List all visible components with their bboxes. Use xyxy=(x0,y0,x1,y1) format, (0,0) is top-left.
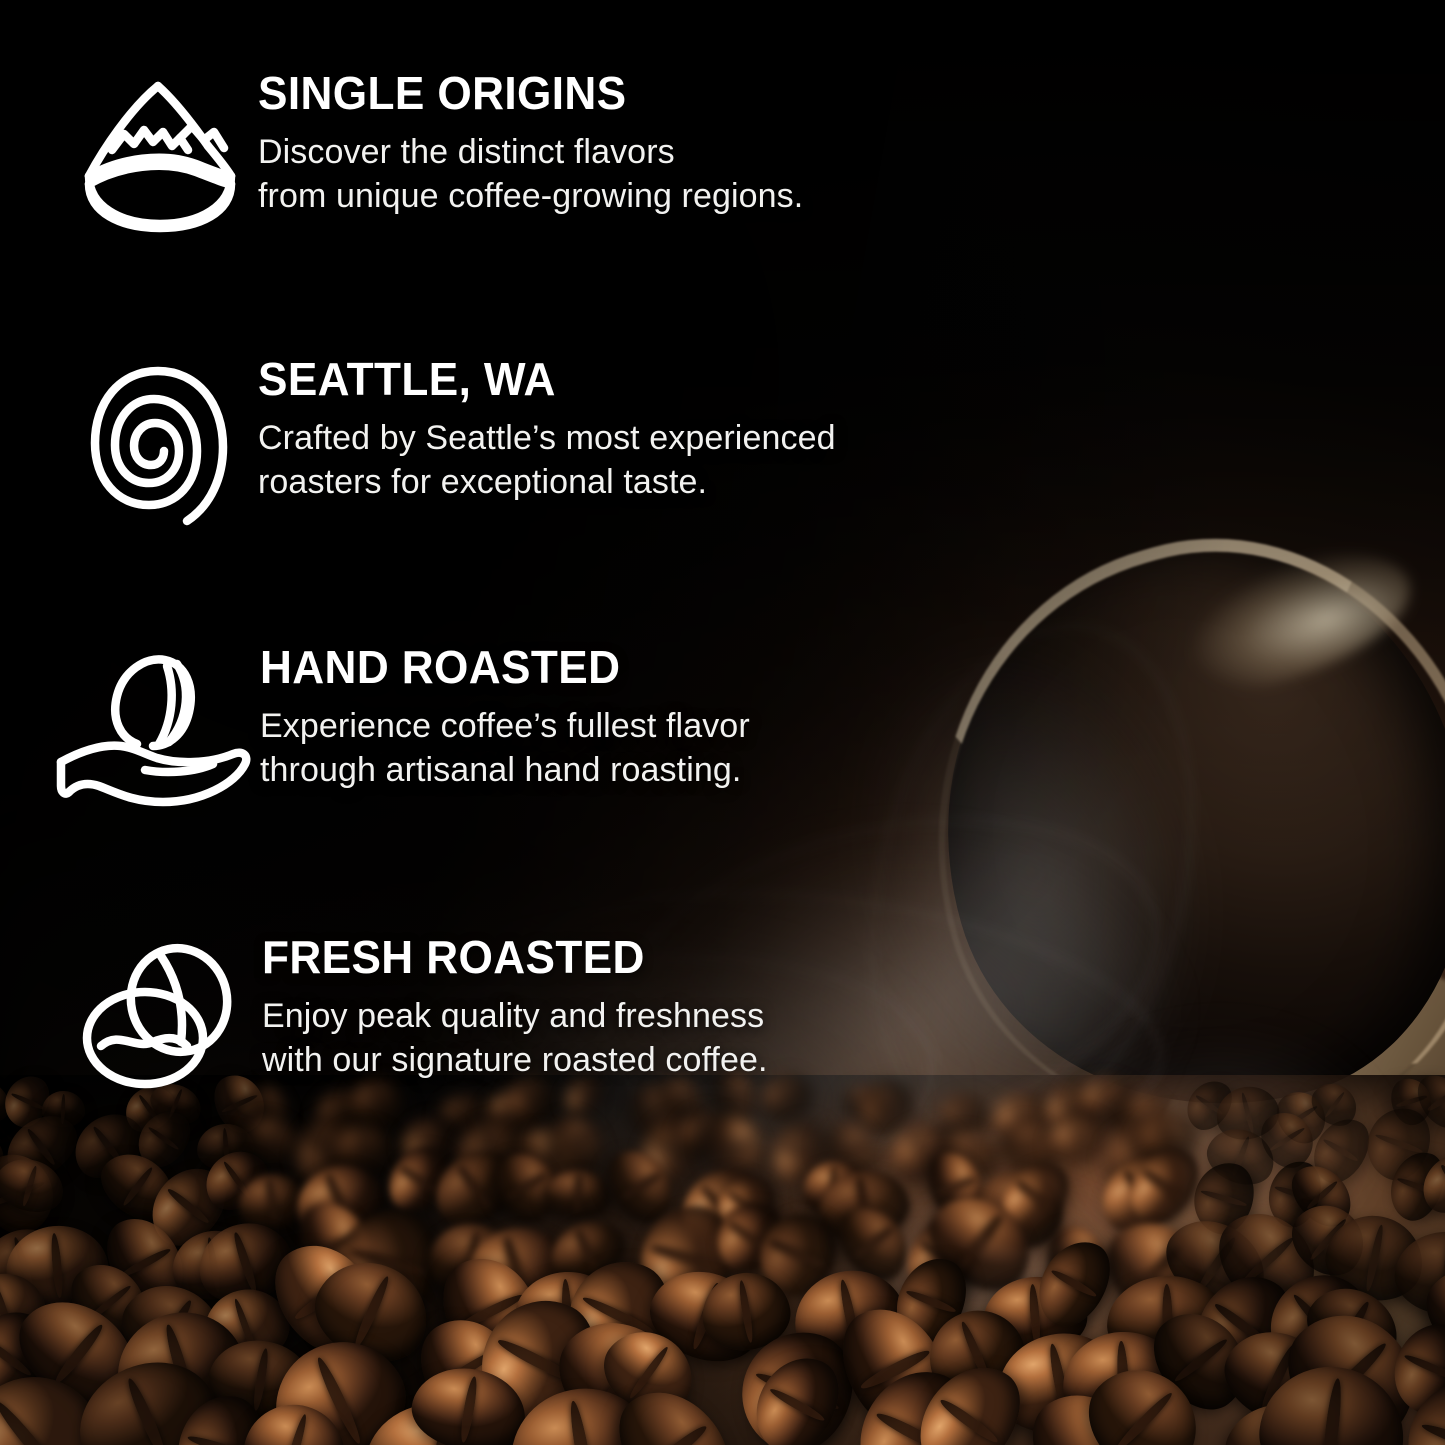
coffee-cup-photo xyxy=(905,540,1445,1160)
feature-item-single-origins: SINGLE ORIGINS Discover the distinct fla… xyxy=(58,62,803,242)
hand-holding-bean-icon xyxy=(42,638,260,818)
feature-item-fresh-roasted: FRESH ROASTED Enjoy peak quality and fre… xyxy=(62,928,768,1108)
feature-title: SEATTLE, WA xyxy=(258,356,813,402)
feature-title: FRESH ROASTED xyxy=(262,934,747,980)
feature-text: FRESH ROASTED Enjoy peak quality and fre… xyxy=(262,928,768,1082)
coffee-bean-field xyxy=(0,1075,1445,1445)
feature-description-line: Enjoy peak quality and freshness xyxy=(262,994,768,1038)
product-feature-infographic: SINGLE ORIGINS Discover the distinct fla… xyxy=(0,0,1445,1445)
feature-text: HAND ROASTED Experience coffee’s fullest… xyxy=(260,638,750,792)
feature-item-hand-roasted: HAND ROASTED Experience coffee’s fullest… xyxy=(42,638,750,818)
feature-description: Enjoy peak quality and freshness with ou… xyxy=(262,994,768,1082)
feature-description-line: Discover the distinct flavors xyxy=(258,130,803,174)
feature-description-line: Experience coffee’s fullest flavor xyxy=(260,704,750,748)
feature-title: SINGLE ORIGINS xyxy=(258,70,781,116)
feature-description-line: from unique coffee-growing regions. xyxy=(258,174,803,218)
feature-description-line: roasters for exceptional taste. xyxy=(258,460,836,504)
fingerprint-icon xyxy=(58,350,258,530)
feature-description: Discover the distinct flavors from uniqu… xyxy=(258,130,803,218)
feature-description: Crafted by Seattle’s most experienced ro… xyxy=(258,416,836,504)
feature-item-seattle-wa: SEATTLE, WA Crafted by Seattle’s most ex… xyxy=(58,350,836,530)
feature-text: SEATTLE, WA Crafted by Seattle’s most ex… xyxy=(258,350,836,504)
feature-description-line: with our signature roasted coffee. xyxy=(262,1038,768,1082)
mountain-bean-icon xyxy=(58,62,258,242)
feature-description: Experience coffee’s fullest flavor throu… xyxy=(260,704,750,792)
feature-description-line: Crafted by Seattle’s most experienced xyxy=(258,416,836,460)
feature-title: HAND ROASTED xyxy=(260,644,730,690)
feature-text: SINGLE ORIGINS Discover the distinct fla… xyxy=(258,62,803,218)
two-coffee-beans-icon xyxy=(62,928,262,1108)
feature-description-line: through artisanal hand roasting. xyxy=(260,748,750,792)
